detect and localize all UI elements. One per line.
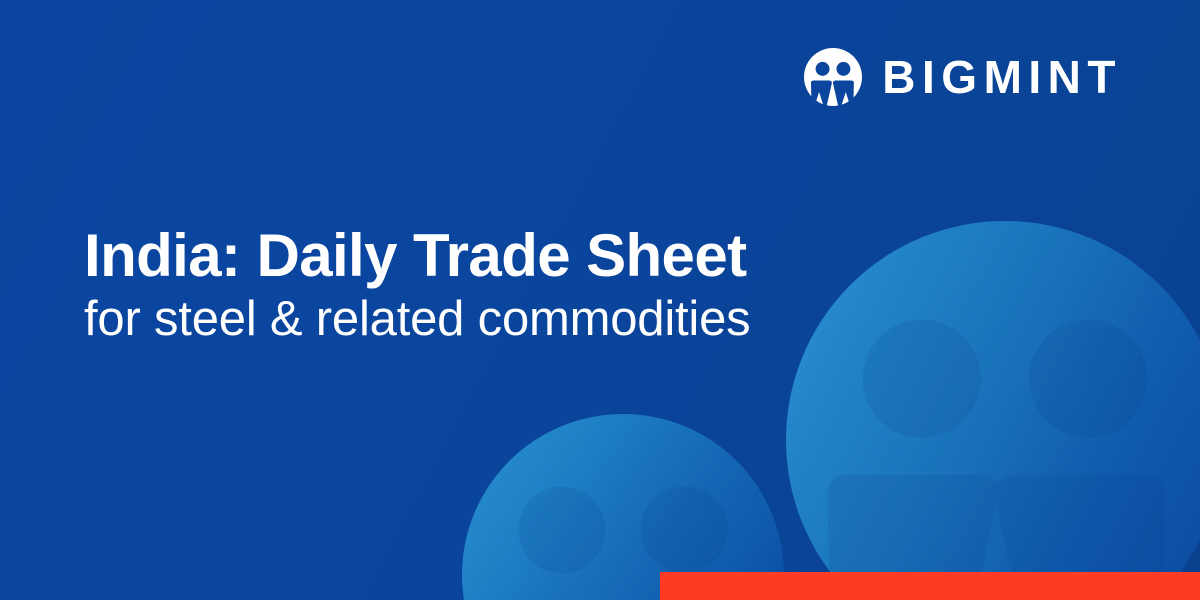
page-subtitle: for steel & related commodities <box>84 292 784 348</box>
accent-bar <box>660 572 1200 600</box>
bigmint-two-people-watermark-icon <box>786 221 1200 600</box>
brand-wordmark: BIGMINT <box>882 54 1122 100</box>
headline-block: India: Daily Trade Sheet for steel & rel… <box>84 224 784 347</box>
bigmint-two-people-circle-icon <box>804 48 862 106</box>
brand-lockup[interactable]: BIGMINT <box>804 48 1122 106</box>
page-title: India: Daily Trade Sheet <box>84 224 784 288</box>
promo-banner: BIGMINT India: Daily Trade Sheet for ste… <box>0 0 1200 600</box>
decorative-circle-large <box>786 221 1200 600</box>
